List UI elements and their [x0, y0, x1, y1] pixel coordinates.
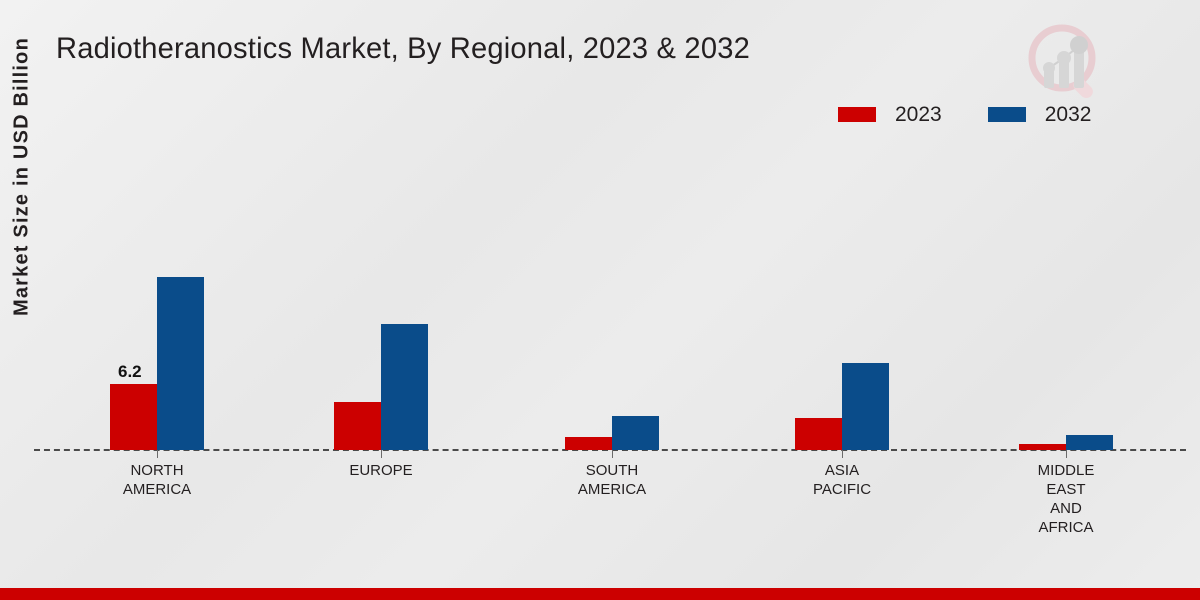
- x-label-line: AFRICA: [971, 518, 1161, 537]
- x-label-south-america: SOUTH AMERICA: [517, 461, 707, 499]
- x-label-europe: EUROPE: [286, 461, 476, 480]
- bars-asia-pacific: [795, 363, 889, 450]
- x-label-asia-pacific: ASIA PACIFIC: [747, 461, 937, 499]
- bar-group-asia-pacific: [795, 150, 905, 450]
- x-tick-asia-pacific: [842, 450, 843, 458]
- x-tick-europe: [381, 450, 382, 458]
- plot-area: 6.2 NORTH AMERICA EUROPE SOUTH AMER: [0, 0, 1200, 600]
- bar-2032-asia-pacific[interactable]: [842, 363, 889, 450]
- chart-canvas: Radiotheranostics Market, By Regional, 2…: [0, 0, 1200, 600]
- bar-2032-middle-east-and-africa[interactable]: [1066, 435, 1113, 450]
- footer-accent-bar: [0, 588, 1200, 600]
- bars-middle-east-and-africa: [1019, 435, 1113, 450]
- bar-group-north-america: [110, 150, 220, 450]
- bar-2032-south-america[interactable]: [612, 416, 659, 450]
- x-tick-south-america: [612, 450, 613, 458]
- bar-2032-europe[interactable]: [381, 324, 428, 450]
- bar-2032-north-america[interactable]: [157, 277, 204, 450]
- bar-group-europe: [334, 150, 444, 450]
- bar-2023-europe[interactable]: [334, 402, 381, 450]
- x-label-middle-east-and-africa: MIDDLE EAST AND AFRICA: [971, 461, 1161, 537]
- x-label-line: AMERICA: [517, 480, 707, 499]
- bar-2023-south-america[interactable]: [565, 437, 612, 450]
- bar-value-2023-north-america: 6.2: [118, 362, 142, 382]
- x-label-line: AMERICA: [62, 480, 252, 499]
- x-label-line: NORTH: [62, 461, 252, 480]
- bar-group-middle-east-and-africa: [1019, 150, 1129, 450]
- bars-south-america: [565, 416, 659, 450]
- bar-group-south-america: [565, 150, 675, 450]
- bar-2023-asia-pacific[interactable]: [795, 418, 842, 450]
- x-label-line: ASIA: [747, 461, 937, 480]
- x-label-line: EAST: [971, 480, 1161, 499]
- bars-europe: [334, 324, 428, 450]
- x-tick-middle-east-and-africa: [1066, 450, 1067, 458]
- x-label-line: PACIFIC: [747, 480, 937, 499]
- bar-2023-middle-east-and-africa[interactable]: [1019, 444, 1066, 450]
- x-label-line: AND: [971, 499, 1161, 518]
- x-label-line: SOUTH: [517, 461, 707, 480]
- x-label-line: MIDDLE: [971, 461, 1161, 480]
- x-tick-north-america: [157, 450, 158, 458]
- x-label-north-america: NORTH AMERICA: [62, 461, 252, 499]
- bar-2023-north-america[interactable]: [110, 384, 157, 450]
- x-label-line: EUROPE: [286, 461, 476, 480]
